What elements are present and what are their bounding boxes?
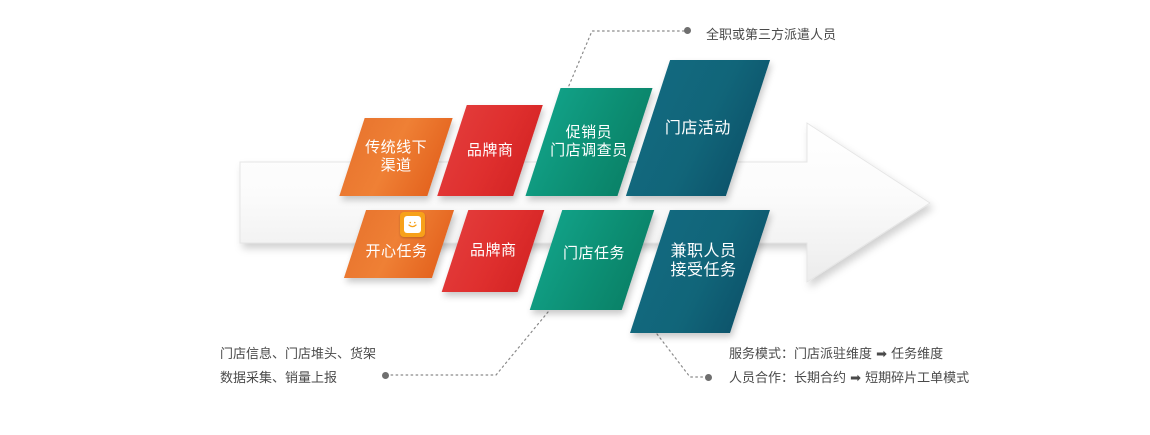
step-label: 促销员 门店调查员 — [550, 124, 628, 159]
smiley-app-icon — [400, 212, 425, 237]
annotation-line: 数据采集、销量上报 — [220, 367, 376, 391]
step-label: 门店活动 — [665, 119, 731, 138]
connector-dot-bottom-right — [705, 374, 712, 381]
annotation-line: 服务模式：门店派驻维度 ➡ 任务维度 — [729, 343, 969, 367]
smiley-face-icon — [404, 216, 421, 233]
diagram-canvas: 传统线下 渠道 品牌商 促销员 门店调查员 门店活动 开心任务 品牌商 门店任务… — [0, 0, 1150, 430]
annotation-staffing: 全职或第三方派遣人员 — [706, 24, 836, 48]
annotation-service-model: 服务模式：门店派驻维度 ➡ 任务维度 人员合作：长期合约 ➡ 短期碎片工单模式 — [729, 343, 969, 391]
step-label: 传统线下 渠道 — [365, 139, 427, 174]
step-label: 开心任务 — [365, 243, 427, 261]
connector-dot-bottom-left — [382, 372, 389, 379]
annotation-line: 人员合作：长期合约 ➡ 短期碎片工单模式 — [729, 367, 969, 391]
step-label: 品牌商 — [467, 142, 514, 160]
connector-dot-top — [684, 27, 691, 34]
step-label: 品牌商 — [470, 242, 517, 260]
annotation-line: 门店信息、门店堆头、货架 — [220, 343, 376, 367]
step-label: 门店任务 — [563, 245, 625, 263]
annotation-data-collection: 门店信息、门店堆头、货架 数据采集、销量上报 — [220, 343, 376, 391]
step-label: 兼职人员 接受任务 — [671, 242, 737, 280]
annotation-line: 全职或第三方派遣人员 — [706, 24, 836, 48]
